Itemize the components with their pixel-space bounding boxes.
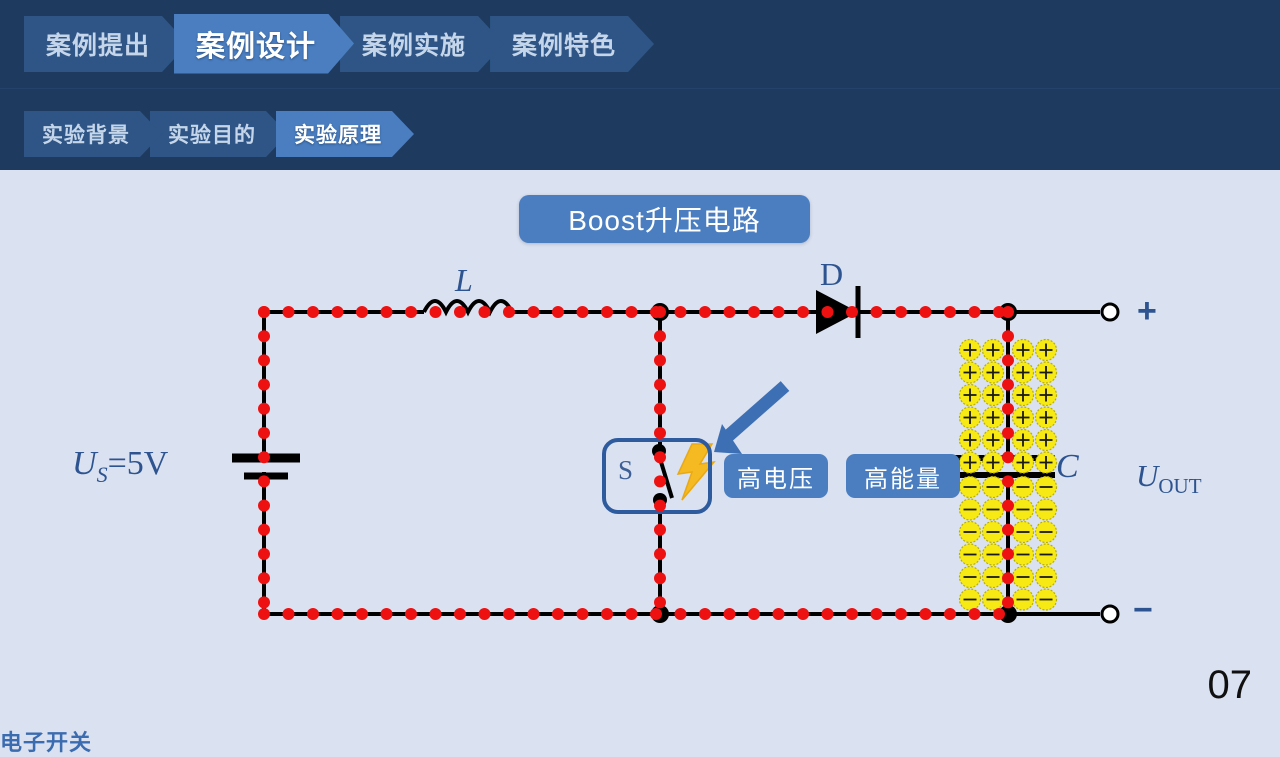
diode-label: D	[820, 256, 843, 293]
tab-case-design[interactable]: 案例设计	[174, 14, 354, 74]
subtab-experiment-background[interactable]: 实验背景	[24, 111, 162, 157]
source-value: =5V	[108, 445, 169, 482]
annotation-arrow-icon	[714, 386, 785, 454]
tab-case-proposal[interactable]: 案例提出	[24, 16, 188, 72]
badge-label: 高电压	[737, 459, 815, 494]
inductor-label: L	[455, 262, 473, 299]
slide-header: 案例提出 案例设计 案例实施 案例特色 实验背景 实验目的 实验原理	[0, 0, 1280, 170]
tab-label: 案例实施	[362, 26, 466, 62]
output-subscript: OUT	[1158, 474, 1201, 498]
secondary-navigation: 实验背景 实验目的 实验原理	[24, 110, 402, 158]
electronic-switch-annotation: 电子开关	[0, 725, 1280, 757]
tab-label: 案例特色	[512, 26, 616, 62]
tab-case-implementation[interactable]: 案例实施	[340, 16, 504, 72]
subtab-label: 实验原理	[294, 119, 382, 149]
switch-label: S	[618, 455, 633, 486]
circuit-svg	[0, 170, 1280, 720]
tab-label: 案例提出	[46, 26, 150, 62]
source-subscript: S	[97, 462, 108, 487]
terminal-positive-label: +	[1137, 292, 1157, 331]
source-voltage-label: US=5V	[72, 445, 168, 488]
subtab-label: 实验目的	[168, 119, 256, 149]
boost-circuit-diagram: US=5V L D C UOUT + − 电子开关 S 高电压 高能量	[0, 170, 1280, 720]
output-terminals	[1102, 304, 1118, 622]
output-voltage-label: UOUT	[1136, 458, 1202, 499]
subtab-experiment-principle[interactable]: 实验原理	[276, 111, 414, 157]
badge-high-energy: 高能量	[846, 454, 960, 498]
capacitor-label: C	[1056, 448, 1079, 486]
primary-navigation: 案例提出 案例设计 案例实施 案例特色	[24, 16, 640, 72]
subtab-experiment-purpose[interactable]: 实验目的	[150, 111, 288, 157]
source-symbol: U	[72, 445, 97, 482]
tab-label: 案例设计	[196, 23, 316, 65]
tab-case-features[interactable]: 案例特色	[490, 16, 654, 72]
header-divider	[0, 88, 1280, 89]
badge-label: 高能量	[864, 459, 942, 494]
subtab-label: 实验背景	[42, 119, 130, 149]
page-number: 07	[1208, 663, 1253, 708]
terminal-negative-label: −	[1133, 591, 1153, 630]
badge-high-voltage: 高电压	[724, 454, 828, 498]
output-symbol: U	[1136, 458, 1158, 493]
